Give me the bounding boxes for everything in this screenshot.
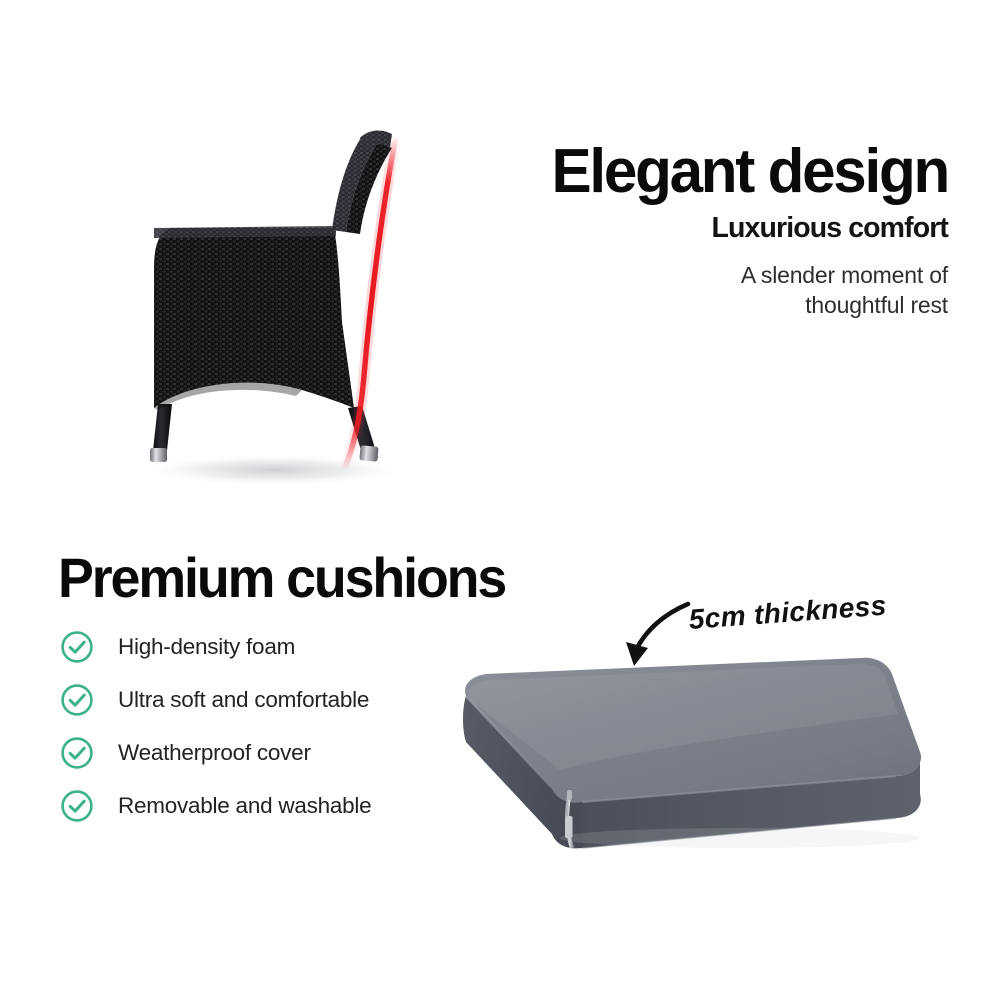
chair-front-leg-cap [359, 445, 378, 462]
feature-list: High-density foam Ultra soft and comfort… [60, 620, 460, 832]
list-item: Weatherproof cover [60, 726, 460, 779]
check-circle-icon [60, 683, 94, 717]
headline-subtitle: Luxurious comfort [470, 213, 948, 244]
chair-product-image [96, 108, 456, 498]
list-item: Ultra soft and comfortable [60, 673, 460, 726]
check-circle-icon [60, 736, 94, 770]
chair-arm-top [154, 226, 336, 238]
check-circle-icon [60, 630, 94, 664]
list-item: Removable and washable [60, 779, 460, 832]
page-title: Elegant design [484, 142, 948, 203]
list-item: High-density foam [60, 620, 460, 673]
cushion-floor-shadow [560, 828, 920, 848]
headline-tagline: A slender moment of thoughtful rest [470, 260, 948, 321]
thickness-arrow-icon [626, 604, 688, 666]
check-circle-icon [60, 789, 94, 823]
feature-label: Removable and washable [118, 793, 371, 819]
infographic-canvas: Elegant design Luxurious comfort A slend… [0, 0, 1000, 1000]
headline-block: Elegant design Luxurious comfort A slend… [470, 142, 948, 321]
tagline-line-1: A slender moment of [470, 260, 948, 290]
feature-label: High-density foam [118, 634, 295, 660]
feature-label: Weatherproof cover [118, 740, 311, 766]
tagline-line-2: thoughtful rest [470, 290, 948, 320]
chair-back-leg-cap [150, 448, 167, 462]
feature-label: Ultra soft and comfortable [118, 687, 369, 713]
chair-side-panel [154, 228, 354, 408]
